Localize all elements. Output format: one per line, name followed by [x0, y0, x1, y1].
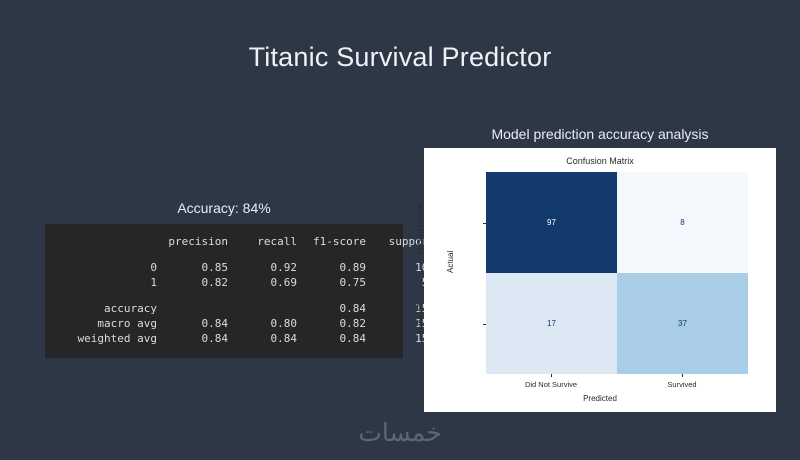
cell-f1-score: 0.75: [301, 275, 370, 290]
cell-f1-score: 0.84: [301, 331, 370, 346]
cell-recall: 0.80: [232, 316, 301, 331]
row-label: 1: [59, 275, 163, 290]
matrix-cell-actual-notsurvive-pred-survived: 8: [617, 172, 748, 273]
row-label: accuracy: [59, 301, 163, 316]
cell-f1-score: 0.84: [301, 301, 370, 316]
cell-precision: 0.82: [163, 275, 232, 290]
classification-report-table: precision recall f1-score support 0 0.85…: [59, 234, 439, 346]
x-tick-mark: [682, 374, 683, 377]
table-row: weighted avg 0.84 0.84 0.84 159: [59, 331, 439, 346]
cell-precision: 0.84: [163, 331, 232, 346]
cell-f1-score: 0.82: [301, 316, 370, 331]
cell-recall: [232, 301, 301, 316]
table-header-row: precision recall f1-score support: [59, 234, 439, 249]
y-axis-label: Actual: [446, 251, 455, 273]
cell-precision: 0.85: [163, 260, 232, 275]
x-axis-label: Predicted: [424, 394, 776, 403]
matrix-cell-actual-notsurvive-pred-notsurvive: 97: [486, 172, 617, 273]
column-header-f1-score: f1-score: [301, 234, 370, 249]
x-tick-label-survived: Survived: [667, 380, 696, 389]
column-header-blank: [59, 234, 163, 249]
y-tick-label-survived: Survived: [416, 304, 425, 333]
classification-report-panel: precision recall f1-score support 0 0.85…: [45, 224, 403, 358]
y-tick-label-did-not-survive: Did Not Survive: [416, 203, 425, 255]
row-label: macro avg: [59, 316, 163, 331]
cell-recall: 0.92: [232, 260, 301, 275]
table-row: 0 0.85 0.92 0.89 105: [59, 260, 439, 275]
confusion-matrix-grid: 97 8 17 37: [486, 172, 748, 374]
matrix-cell-actual-survived-pred-notsurvive: 17: [486, 273, 617, 374]
matrix-cell-actual-survived-pred-survived: 37: [617, 273, 748, 374]
spacer-row: [59, 249, 439, 260]
confusion-matrix-card: Confusion Matrix Actual Did Not Survive …: [424, 148, 776, 412]
row-label: 0: [59, 260, 163, 275]
cell-recall: 0.69: [232, 275, 301, 290]
cell-precision: [163, 301, 232, 316]
chart-caption: Model prediction accuracy analysis: [424, 126, 776, 142]
x-tick-mark: [551, 374, 552, 377]
cell-f1-score: 0.89: [301, 260, 370, 275]
column-header-precision: precision: [163, 234, 232, 249]
row-label: weighted avg: [59, 331, 163, 346]
watermark: خمسات: [0, 418, 800, 448]
page-title: Titanic Survival Predictor: [0, 42, 800, 73]
chart-title: Confusion Matrix: [424, 156, 776, 166]
accuracy-label: Accuracy: 84%: [45, 200, 403, 216]
plot-area: 97 8 17 37: [486, 172, 748, 374]
table-row: accuracy 0.84 159: [59, 301, 439, 316]
table-row: 1 0.82 0.69 0.75 54: [59, 275, 439, 290]
cell-recall: 0.84: [232, 331, 301, 346]
x-tick-label-did-not-survive: Did Not Survive: [525, 380, 577, 389]
column-header-recall: recall: [232, 234, 301, 249]
spacer-row: [59, 290, 439, 301]
table-row: macro avg 0.84 0.80 0.82 159: [59, 316, 439, 331]
cell-precision: 0.84: [163, 316, 232, 331]
classification-report-block: Accuracy: 84% precision recall f1-score …: [45, 200, 403, 358]
